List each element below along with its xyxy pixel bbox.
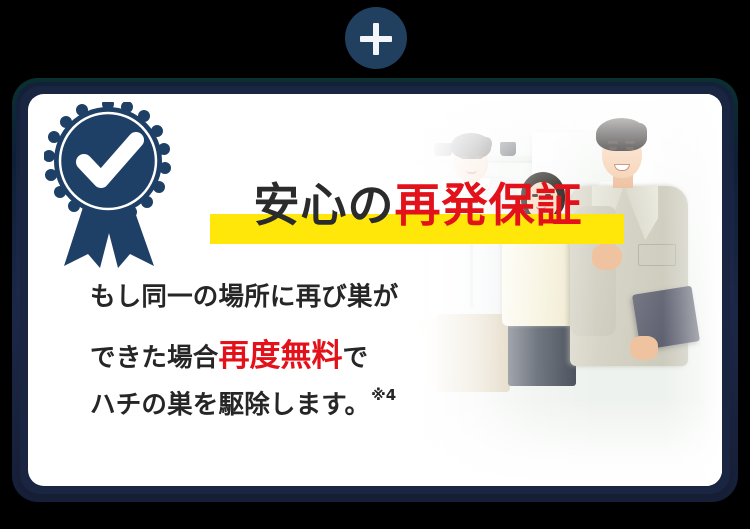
headline-prefix: 安心の [254,178,395,232]
body-line-2-suffix: で [343,337,369,374]
plus-icon-vertical-bar [373,23,379,55]
expand-plus-badge[interactable] [345,7,407,69]
team-photo [392,94,722,486]
guarantee-card: 安心の再発保証 もし同一の場所に再び巣が できた場合 再度無料 で ハチの巣を駆… [28,94,722,486]
award-rosette-check-icon [44,102,174,272]
photo-fade-right [392,94,722,486]
footnote-marker: ※4 [371,386,396,404]
body-line-3-text: ハチの巣を駆除します。 [90,384,370,421]
headline-emphasis: 再発保証 [395,178,583,232]
headline: 安心の再発保証 [198,176,638,238]
guarantee-card-frame: 安心の再発保証 もし同一の場所に再び巣が できた場合 再度無料 で ハチの巣を駆… [12,78,738,502]
body-copy: もし同一の場所に再び巣が できた場合 再度無料 で ハチの巣を駆除します。 ※4 [90,276,430,438]
body-line-3: ハチの巣を駆除します。 ※4 [90,384,430,438]
body-line-1: もし同一の場所に再び巣が [90,276,430,330]
headline-text: 安心の再発保証 [198,176,638,234]
body-line-2-prefix: できた場合 [90,337,219,374]
guarantee-card-frame-ring: 安心の再発保証 もし同一の場所に再び巣が できた場合 再度無料 で ハチの巣を駆… [16,82,734,498]
body-line-2-emphasis: 再度無料 [219,330,343,375]
body-line-1-text: もし同一の場所に再び巣が [90,276,398,313]
body-line-2: できた場合 再度無料 で [90,330,430,384]
guarantee-card-frame-ring-inner: 安心の再発保証 もし同一の場所に再び巣が できた場合 再度無料 で ハチの巣を駆… [20,86,730,494]
